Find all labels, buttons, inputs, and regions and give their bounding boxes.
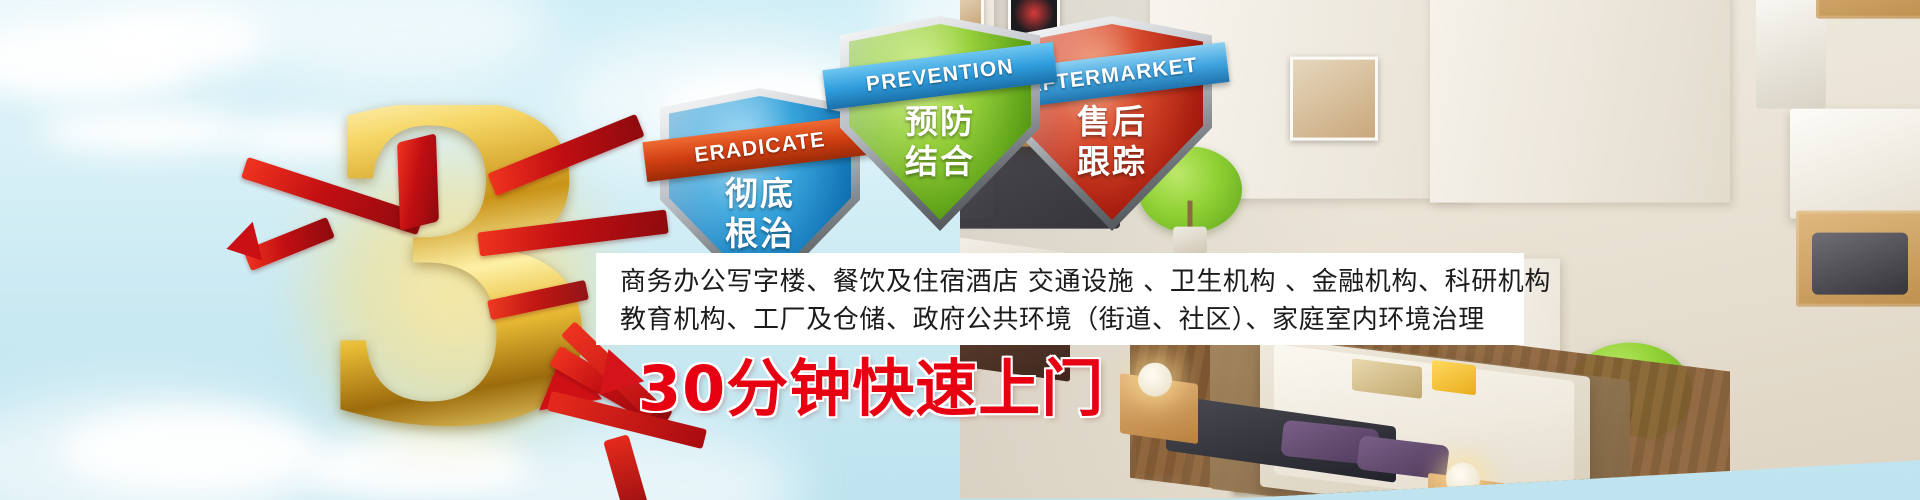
promo-banner: 3 彻底 根治 ERADICATE 预防 bbox=[0, 0, 1920, 500]
service-scope-panel: 商务办公写字楼、餐饮及住宿酒店 交通设施 、卫生机构 、金融机构、科研机构 教育… bbox=[596, 253, 1524, 345]
shield-aftermarket-cn-line2: 跟踪 bbox=[1012, 142, 1212, 182]
shield-eradicate-english: ERADICATE bbox=[693, 128, 827, 168]
shield-eradicate-cn-line2: 根治 bbox=[660, 214, 860, 254]
shield-prevention[interactable]: 预防 结合 PREVENTION bbox=[840, 16, 1040, 231]
shield-prevention-cn-line2: 结合 bbox=[840, 142, 1040, 182]
service-scope-line-1: 商务办公写字楼、餐饮及住宿酒店 交通设施 、卫生机构 、金融机构、科研机构 bbox=[620, 263, 1524, 301]
headline-30min-onsite: 30分钟快速上门 bbox=[638, 356, 1104, 422]
shield-prevention-cn-line1: 预防 bbox=[840, 102, 1040, 142]
shield-eradicate-cn-line1: 彻底 bbox=[660, 174, 860, 214]
service-scope-line-2: 教育机构、工厂及仓储、政府公共环境（街道、社区）、家庭室内环境治理 bbox=[620, 301, 1524, 339]
shield-aftermarket-cn-line1: 售后 bbox=[1012, 102, 1212, 142]
